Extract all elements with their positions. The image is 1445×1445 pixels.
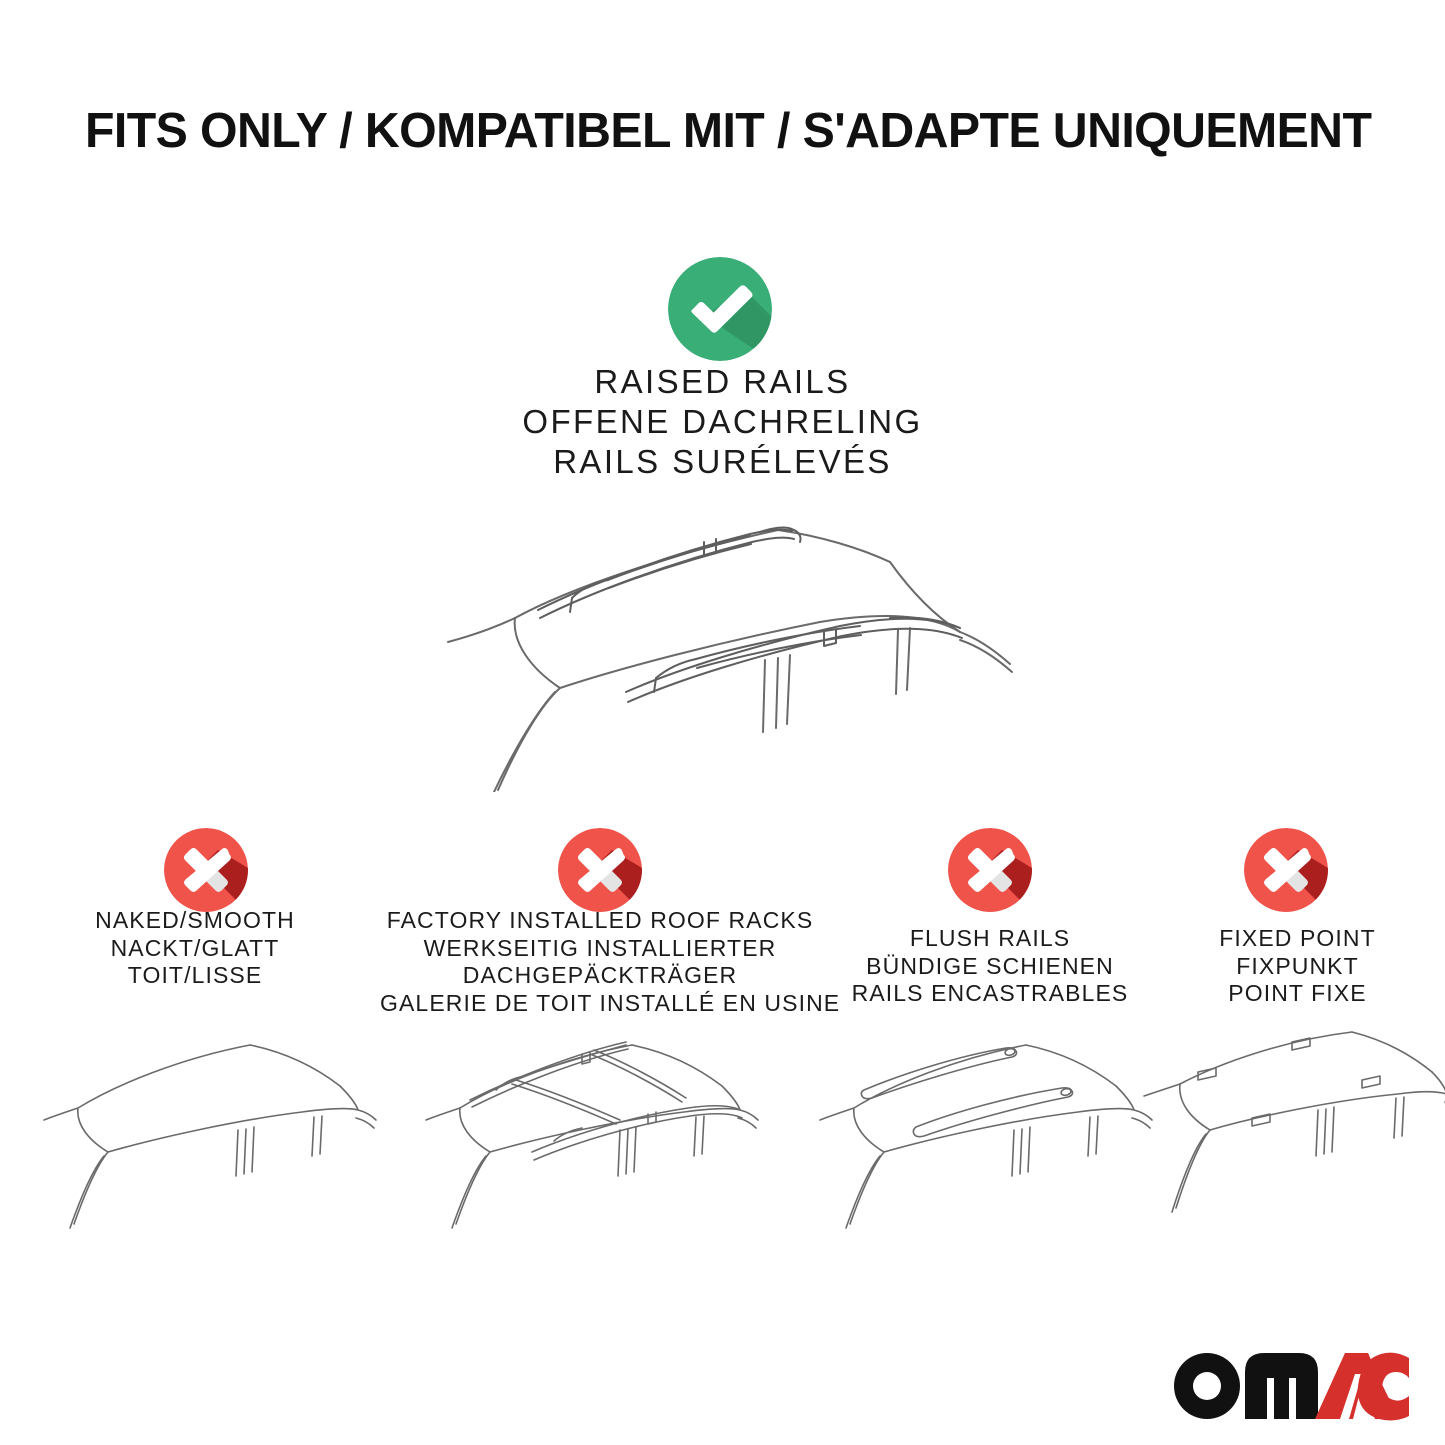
car-roof-factory-racks-illustration <box>404 1012 774 1247</box>
caption-line-de: BÜNDIGE SCHIENEN <box>790 953 1190 981</box>
incompatible-caption: FIXED POINT FIXPUNKT POINT FIXE <box>1150 925 1445 1008</box>
fitment-guide-page: FITS ONLY / KOMPATIBEL MIT / S'ADAPTE UN… <box>0 0 1445 1445</box>
caption-line-en: NAKED/SMOOTH <box>0 907 390 935</box>
caption-line-en: FLUSH RAILS <box>790 925 1190 953</box>
caption-line-en: FIXED POINT <box>1150 925 1445 953</box>
compatible-caption: RAISED RAILS OFFENE DACHRELING RAILS SUR… <box>0 362 1445 482</box>
cross-circle-icon <box>948 828 1032 912</box>
incompatible-caption: NAKED/SMOOTH NACKT/GLATT TOIT/LISSE <box>0 907 390 990</box>
car-roof-flush-rails-illustration <box>798 1012 1168 1247</box>
omac-logo <box>1163 1334 1413 1429</box>
page-title: FITS ONLY / KOMPATIBEL MIT / S'ADAPTE UN… <box>85 103 1356 159</box>
caption-line-de-1: WERKSEITIG INSTALLIERTER <box>380 935 820 963</box>
cross-circle-icon <box>1244 828 1328 912</box>
compatible-line-de: OFFENE DACHRELING <box>0 402 1445 442</box>
incompatible-caption: FACTORY INSTALLED ROOF RACKS WERKSEITIG … <box>380 907 820 1017</box>
incompatible-caption: FLUSH RAILS BÜNDIGE SCHIENEN RAILS ENCAS… <box>790 925 1190 1008</box>
cross-circle-icon <box>164 828 248 912</box>
caption-line-fr: RAILS ENCASTRABLES <box>790 980 1190 1008</box>
caption-line-fr: POINT FIXE <box>1150 980 1445 1008</box>
caption-line-fr: TOIT/LISSE <box>0 962 390 990</box>
caption-line-de: FIXPUNKT <box>1150 953 1445 981</box>
cross-circle-icon <box>558 828 642 912</box>
compatible-line-fr: RAILS SURÉLEVÉS <box>0 442 1445 482</box>
car-roof-fixed-point-illustration <box>1140 1012 1445 1247</box>
caption-line-de: NACKT/GLATT <box>0 935 390 963</box>
compatible-line-en: RAISED RAILS <box>0 362 1445 402</box>
check-circle-icon <box>668 257 772 361</box>
caption-line-en: FACTORY INSTALLED ROOF RACKS <box>380 907 820 935</box>
caption-line-de-2: DACHGEPÄCKTRÄGER <box>380 962 820 990</box>
car-roof-naked-smooth-illustration <box>22 1012 392 1247</box>
car-roof-raised-rails-illustration <box>420 492 1020 792</box>
